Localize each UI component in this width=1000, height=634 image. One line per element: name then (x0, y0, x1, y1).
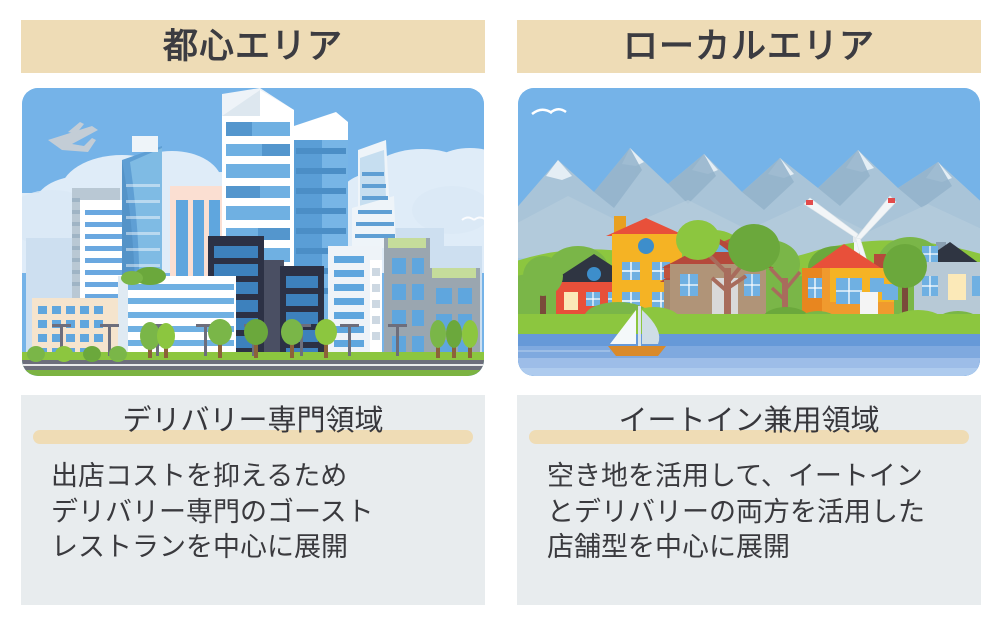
body-line: 空き地を活用して、イートイン (547, 459, 963, 495)
subtitle-wrap-local: イートイン兼用領域 (517, 395, 981, 451)
body-line: 店舗型を中心に展開 (547, 530, 963, 566)
body-line: デリバリー専門のゴースト (51, 495, 467, 531)
header-title-local: ローカルエリア (623, 29, 875, 64)
text-panel-urban: デリバリー専門領域 出店コストを抑えるため デリバリー専門のゴースト レストラン… (21, 395, 485, 605)
column-urban: 都心エリア (21, 0, 485, 634)
body-line: 出店コストを抑えるため (51, 459, 467, 495)
countryside-village-illustration (518, 88, 980, 376)
header-band-local: ローカルエリア (517, 20, 981, 73)
subtitle-local: イートイン兼用領域 (618, 407, 879, 440)
header-title-urban: 都心エリア (163, 29, 343, 64)
subtitle-wrap-urban: デリバリー専門領域 (21, 395, 485, 451)
body-line: とデリバリーの両方を活用した (547, 495, 963, 531)
comparison-infographic: 都心エリア (0, 0, 1000, 634)
body-text-urban: 出店コストを抑えるため デリバリー専門のゴースト レストランを中心に展開 (21, 459, 485, 566)
body-text-local: 空き地を活用して、イートイン とデリバリーの両方を活用した 店舗型を中心に展開 (517, 459, 981, 566)
column-local: ローカルエリア (517, 0, 981, 634)
body-line: レストランを中心に展開 (51, 530, 467, 566)
text-panel-local: イートイン兼用領域 空き地を活用して、イートイン とデリバリーの両方を活用した … (517, 395, 981, 605)
header-band-urban: 都心エリア (21, 20, 485, 73)
subtitle-urban: デリバリー専門領域 (122, 407, 383, 440)
city-skyline-illustration (22, 88, 484, 376)
